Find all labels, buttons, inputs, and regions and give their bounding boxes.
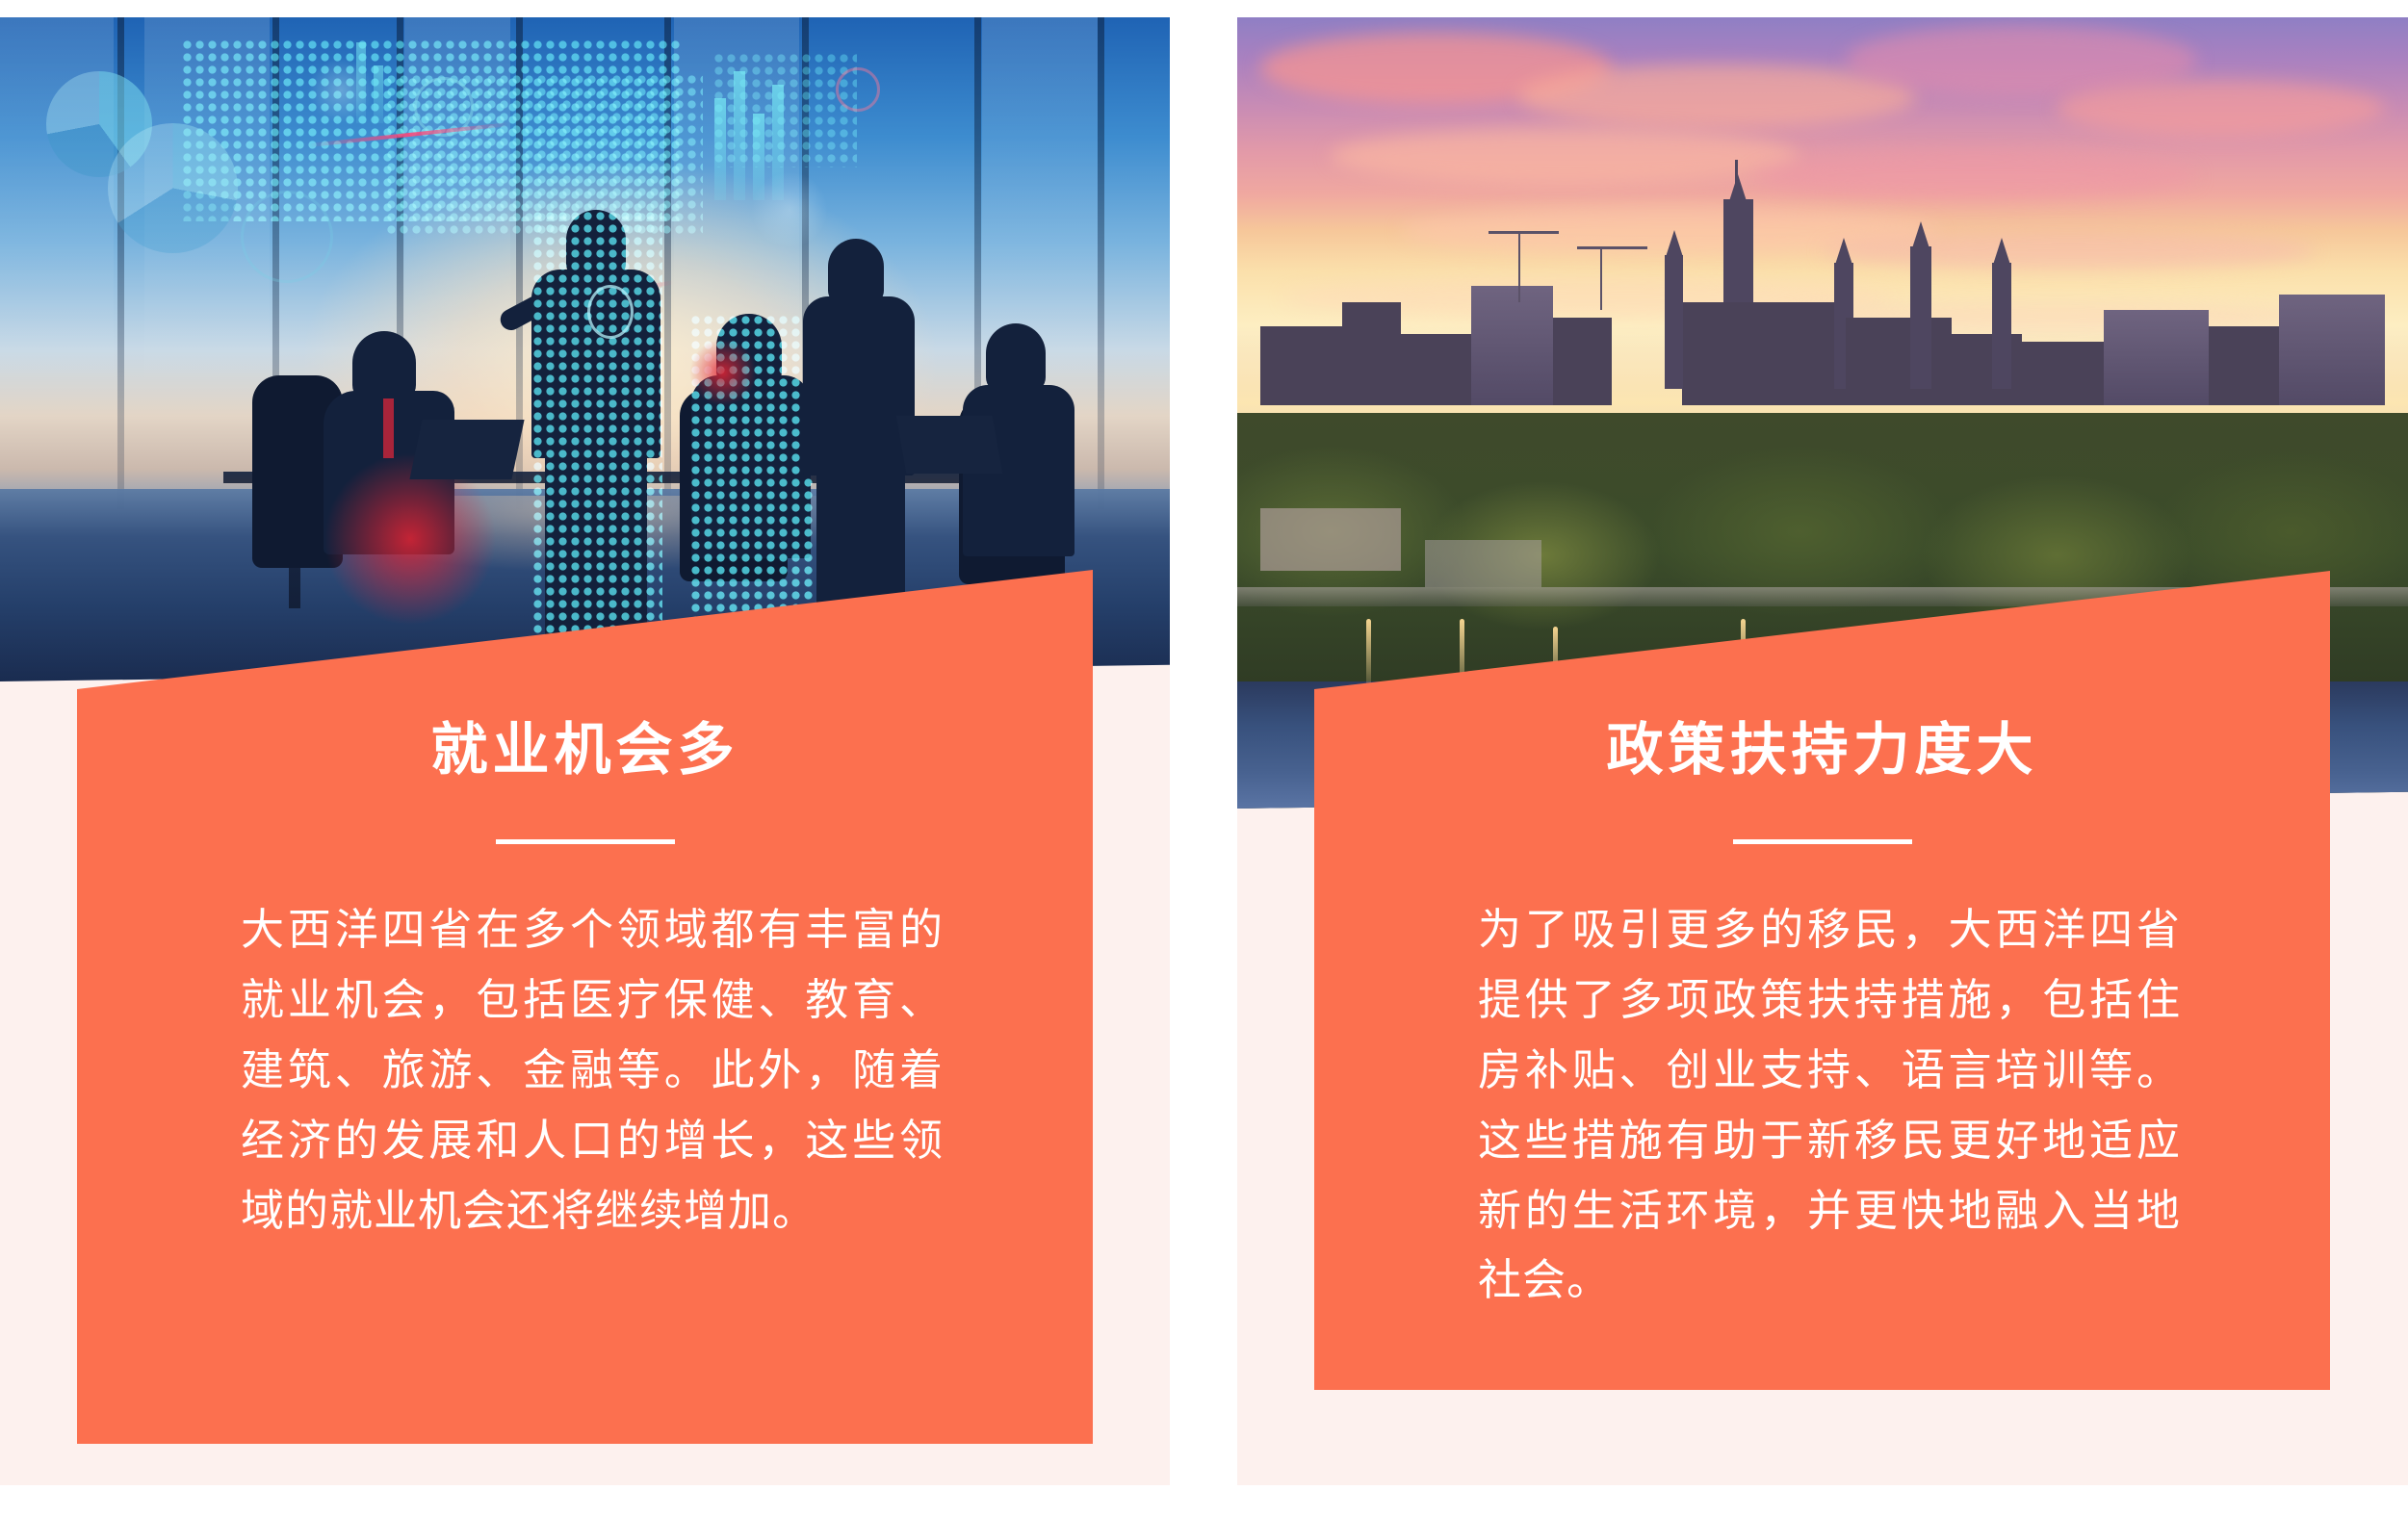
card-body-employment: 大西洋四省在多个领域都有丰富的就业机会，包括医疗保健、教育、建筑、旅游、金融等。…	[241, 895, 944, 1246]
card-body-policy-support: 为了吸引更多的移民，大西洋四省提供了多项政策扶持措施，包括住房补贴、创业支持、语…	[1478, 895, 2181, 1316]
card-divider-employment	[496, 839, 675, 844]
card-title-policy-support: 政策扶持力度大	[1314, 722, 2330, 779]
card-divider-policy-support	[1733, 839, 1912, 844]
poster-stage: 就业机会多 大西洋四省在多个领域都有丰富的就业机会，包括医疗保健、教育、建筑、旅…	[0, 0, 2408, 1516]
card-title-employment: 就业机会多	[77, 722, 1093, 779]
